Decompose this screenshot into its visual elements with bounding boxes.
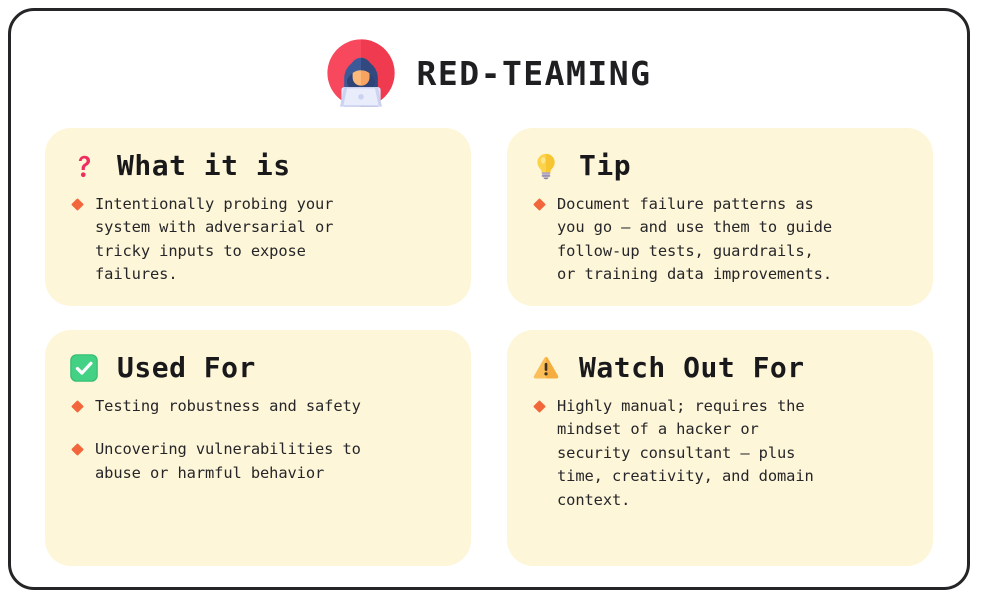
card-watch-out-for: Watch Out For Highly manual; requires th… [507, 330, 933, 566]
list-item: Highly manual; requires the mindset of a… [529, 395, 911, 512]
card-header: Tip [529, 145, 911, 187]
bullet-text: Uncovering vulnerabilities to abuse or h… [95, 438, 361, 485]
lightbulb-icon [529, 149, 563, 183]
diamond-bullet-icon [533, 400, 546, 413]
diamond-bullet-icon [71, 198, 84, 211]
card-header: Watch Out For [529, 347, 911, 389]
green-check-icon [67, 351, 101, 385]
diamond-bullet-icon [71, 400, 84, 413]
list-item: Document failure patterns as you go — an… [529, 193, 911, 287]
question-mark-icon [67, 149, 101, 183]
bullet-list: Testing robustness and safety Uncovering… [67, 395, 449, 485]
diamond-bullet-icon [71, 444, 84, 457]
bullet-list: Intentionally probing your system with a… [67, 193, 449, 287]
poster-frame: RED-TEAMING What it is Intentionally pro… [8, 8, 970, 590]
card-title: Used For [117, 354, 256, 382]
page-title: RED-TEAMING [416, 57, 651, 90]
card-header: Used For [67, 347, 449, 389]
card-header: What it is [67, 145, 449, 187]
card-used-for: Used For Testing robustness and safety U… [45, 330, 471, 566]
card-title: Watch Out For [579, 354, 805, 382]
bullet-list: Highly manual; requires the mindset of a… [529, 395, 911, 512]
card-title: What it is [117, 152, 291, 180]
bullet-list: Document failure patterns as you go — an… [529, 193, 911, 287]
bullet-text: Document failure patterns as you go — an… [557, 193, 832, 287]
list-item: Testing robustness and safety [67, 395, 449, 418]
hacker-avatar-icon [326, 38, 396, 108]
bullet-text: Testing robustness and safety [95, 395, 361, 418]
diamond-bullet-icon [533, 198, 546, 211]
poster-header: RED-TEAMING [11, 33, 967, 113]
list-item: Intentionally probing your system with a… [67, 193, 449, 287]
bullet-text: Highly manual; requires the mindset of a… [557, 395, 814, 512]
card-title: Tip [579, 152, 631, 180]
card-what-it-is: What it is Intentionally probing your sy… [45, 128, 471, 306]
card-tip: Tip Document failure patterns as you go … [507, 128, 933, 306]
warning-triangle-icon [529, 351, 563, 385]
bullet-text: Intentionally probing your system with a… [95, 193, 333, 287]
list-item: Uncovering vulnerabilities to abuse or h… [67, 438, 449, 485]
card-grid: What it is Intentionally probing your sy… [45, 128, 933, 566]
